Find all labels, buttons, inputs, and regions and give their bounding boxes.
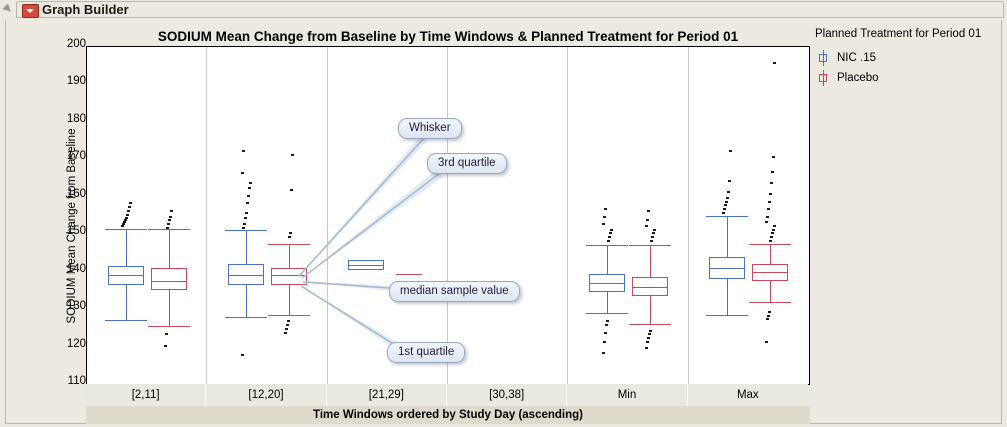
outlier-point [765,341,768,343]
y-axis: SODIUM Mean Change from Baseline 2001901… [50,40,86,390]
y-axis-tick-label: 130 [52,300,86,312]
y-axis-tick-label: 170 [52,150,86,162]
outlier-point [770,236,773,238]
x-axis-category-0[interactable]: [2,11] [86,384,206,406]
outlier-point [769,240,772,242]
x-axis-category-1[interactable]: [12,20] [206,384,326,406]
y-axis-tick-label: 150 [52,225,86,237]
y-axis-tick-label: 160 [52,188,86,200]
outlier-point [771,232,774,234]
outlier-point [768,201,771,203]
outlier-point [771,171,774,173]
legend-item-0[interactable]: NIC .15 [815,48,995,68]
whisker-upper-cap [749,244,791,245]
outlier-point [767,315,770,317]
legend-item-label: NIC .15 [837,52,876,64]
box-median [752,272,788,273]
legend-item-label: Placebo [837,72,879,84]
window-title: Graph Builder [42,2,129,17]
legend-boxplot-icon [815,70,831,86]
legend-boxplot-icon [815,50,831,66]
outlier-point [769,193,772,195]
chart-title: SODIUM Mean Change from Baseline by Time… [88,29,808,44]
outlier-point [766,318,769,320]
legend-item-1[interactable]: Placebo [815,68,995,88]
x-axis-label: Time Windows ordered by Study Day (ascen… [86,406,810,424]
graph-builder-window: Graph Builder SODIUM Mean Change from Ba… [0,0,1007,427]
y-axis-tick-label: 200 [52,38,86,50]
window-titlebar: Graph Builder [0,0,1007,19]
y-axis-tick-label: 120 [52,338,86,350]
outlier-point [766,216,769,218]
y-axis-tick-label: 180 [52,113,86,125]
outlier-point [767,208,770,210]
outlier-point [772,229,775,231]
annotation-median[interactable]: median sample value [389,281,520,302]
annotation-1st-quartile[interactable]: 1st quartile [387,342,465,363]
x-axis-categories: [2,11][12,20][21,29][30,38]MinMax [86,384,810,406]
outlier-point [770,182,773,184]
x-axis-category-2[interactable]: [21,29] [327,384,447,406]
outlier-point [773,62,776,64]
annotation-whisker[interactable]: Whisker [398,118,462,139]
whisker-lower-stem [770,281,771,302]
x-axis-category-3[interactable]: [30,38] [447,384,567,406]
red-triangle-menu-icon[interactable] [22,4,39,18]
outlier-point [773,225,776,227]
whisker-lower-cap [749,302,791,303]
y-axis-tick-label: 140 [52,263,86,275]
outlier-point [765,221,768,223]
disclosure-triangle-icon[interactable] [2,3,13,14]
x-axis-category-5[interactable]: Max [688,384,808,406]
outlier-point [772,156,775,158]
whisker-upper-stem [770,244,771,265]
legend-title: Planned Treatment for Period 01 [815,28,995,40]
plot-area [86,46,810,385]
y-axis-tick-label: 110 [52,375,86,387]
outlier-point [768,311,771,313]
legend: Planned Treatment for Period 01 NIC .15P… [815,28,995,88]
title-well [16,1,1004,18]
y-axis-tick-label: 190 [52,75,86,87]
boxplot-Placebo-5[interactable] [87,47,809,384]
x-axis-category-4[interactable]: Min [567,384,687,406]
annotation-3rd-quartile[interactable]: 3rd quartile [427,153,507,174]
